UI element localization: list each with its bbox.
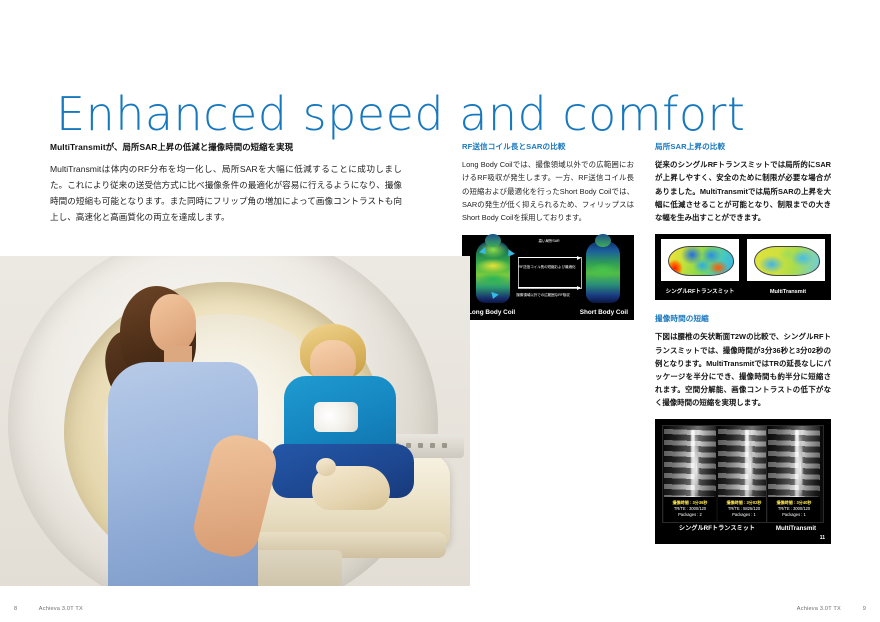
scan-1-packages: Packages : 2 xyxy=(664,512,716,518)
lead-heading: MultiTransmitが、局所SAR上昇の低減と撮像時間の短縮を実現 xyxy=(50,142,402,153)
sar-heatmap-hot xyxy=(668,246,734,276)
lead-body: MultiTransmitは体内のRF分布を均一化し、局所SARを大幅に低減する… xyxy=(50,162,402,226)
figure-caption-long-body-coil: Long Body Coil xyxy=(468,309,515,316)
sar-caption-single-rf: シングルRFトランスミット xyxy=(659,287,741,295)
sar-heatmap-cool xyxy=(754,246,820,276)
spine-scan-1-parameters: 撮像時間 : 3分36秒 TR/TE : 3000/120 Packages :… xyxy=(664,497,716,522)
spine-scan-3-parameters: 撮像時間 : 3分40秒 TR/TE : 3000/120 Packages :… xyxy=(768,497,820,522)
sar-section: 局所SAR上昇の比較 従来のシングルRFトランスミットでは局所的にSARが上昇し… xyxy=(655,142,831,300)
spine-scan-2-parameters: 撮像時間 : 3分02秒 TR/TE : 5826/120 Packages :… xyxy=(718,497,770,522)
coil-section: RF送信コイル長とSARの比較 Long Body Coilでは、撮像領域以外で… xyxy=(462,142,634,320)
footer-right: Achieva 3.0T TX 9 xyxy=(797,606,866,612)
technician-face xyxy=(150,294,196,352)
technician xyxy=(84,286,272,586)
sar-section-heading: 局所SAR上昇の比較 xyxy=(655,142,831,152)
spine-caption-multitransmit: MultiTransmit xyxy=(765,525,827,532)
spine-scan-comparison-figure: 撮像時間 : 3分36秒 TR/TE : 3000/120 Packages :… xyxy=(655,419,831,544)
spine-scan-1: 撮像時間 : 3分36秒 TR/TE : 3000/120 Packages :… xyxy=(664,426,716,522)
brochure-page: Enhanced speed and comfort MultiTransmit… xyxy=(0,0,880,622)
footer-left: 8 Achieva 3.0T TX xyxy=(14,606,83,612)
single-rf-scan-pair: 撮像時間 : 3分36秒 TR/TE : 3000/120 Packages :… xyxy=(662,425,772,523)
footer-product-right: Achieva 3.0T TX xyxy=(797,606,841,612)
scan-time-heading: 撮像時間の短縮 xyxy=(655,314,831,324)
spine-caption-single-rf: シングルRFトランスミット xyxy=(665,523,769,532)
sar-caption-multitransmit: MultiTransmit xyxy=(747,289,829,295)
coil-section-heading: RF送信コイル長とSARの比較 xyxy=(462,142,634,152)
figure-note-coil-shortening: RF送信コイル長の短縮および最適化 xyxy=(514,265,580,270)
scan-time-section: 撮像時間の短縮 下図は腰椎の矢状断面T2Wの比較で、シングルRFトランスミットで… xyxy=(655,314,831,544)
figure-number: 11 xyxy=(820,535,825,541)
figure-note-hot-sar: 高い局所SAR xyxy=(520,239,578,244)
scan-3-packages: Packages : 1 xyxy=(768,512,820,518)
taper-guide xyxy=(518,257,582,289)
multitransmit-scan: 撮像時間 : 3分40秒 TR/TE : 3000/120 Packages :… xyxy=(766,425,824,523)
spine-scan-3: 撮像時間 : 3分40秒 TR/TE : 3000/120 Packages :… xyxy=(768,426,820,522)
multitransmit-sar-image xyxy=(747,239,825,281)
lead-text-column: MultiTransmitが、局所SAR上昇の低減と撮像時間の短縮を実現 Mul… xyxy=(50,142,402,226)
single-rf-sar-image xyxy=(661,239,739,281)
coil-section-body: Long Body Coilでは、撮像領域以外での広範囲におけるRF吸収が発生し… xyxy=(462,158,634,224)
sar-comparison-figure: シングルRFトランスミット MultiTransmit xyxy=(655,234,831,300)
footer-page-number-left: 8 xyxy=(14,606,17,612)
footer-page-number-right: 9 xyxy=(863,606,866,612)
scan-2-packages: Packages : 1 xyxy=(718,512,770,518)
scan-time-body: 下図は腰椎の矢状断面T2Wの比較で、シングルRFトランスミットでは、撮像時間が3… xyxy=(655,330,831,409)
footer-product-left: Achieva 3.0T TX xyxy=(39,606,83,612)
teddy-bear xyxy=(312,466,390,510)
page-title: Enhanced speed and comfort xyxy=(56,91,745,137)
body-coil-comparison-figure: 高い局所SAR RF送信コイル長の短縮および最適化 撮像領域以外での広範囲なRF… xyxy=(462,235,634,320)
child-shirt-graphic xyxy=(314,402,358,432)
child-patient xyxy=(268,324,418,504)
right-column: 局所SAR上昇の比較 従来のシングルRFトランスミットでは局所的にSARが上昇し… xyxy=(655,142,831,544)
short-body-coil-thermal-image xyxy=(586,241,620,303)
spine-scan-2: 撮像時間 : 3分02秒 TR/TE : 5826/120 Packages :… xyxy=(718,426,770,522)
figure-caption-short-body-coil: Short Body Coil xyxy=(580,309,628,316)
sar-section-body: 従来のシングルRFトランスミットでは局所的にSARが上昇しやすく、安全のために制… xyxy=(655,158,831,224)
taper-arrow-top xyxy=(518,257,580,258)
figure-note-rf-absorption: 撮像領域以外での広範囲なRF吸収 xyxy=(508,293,578,298)
mri-room-photograph: PHILIPS xyxy=(0,256,470,586)
taper-arrow-bottom xyxy=(518,287,580,288)
